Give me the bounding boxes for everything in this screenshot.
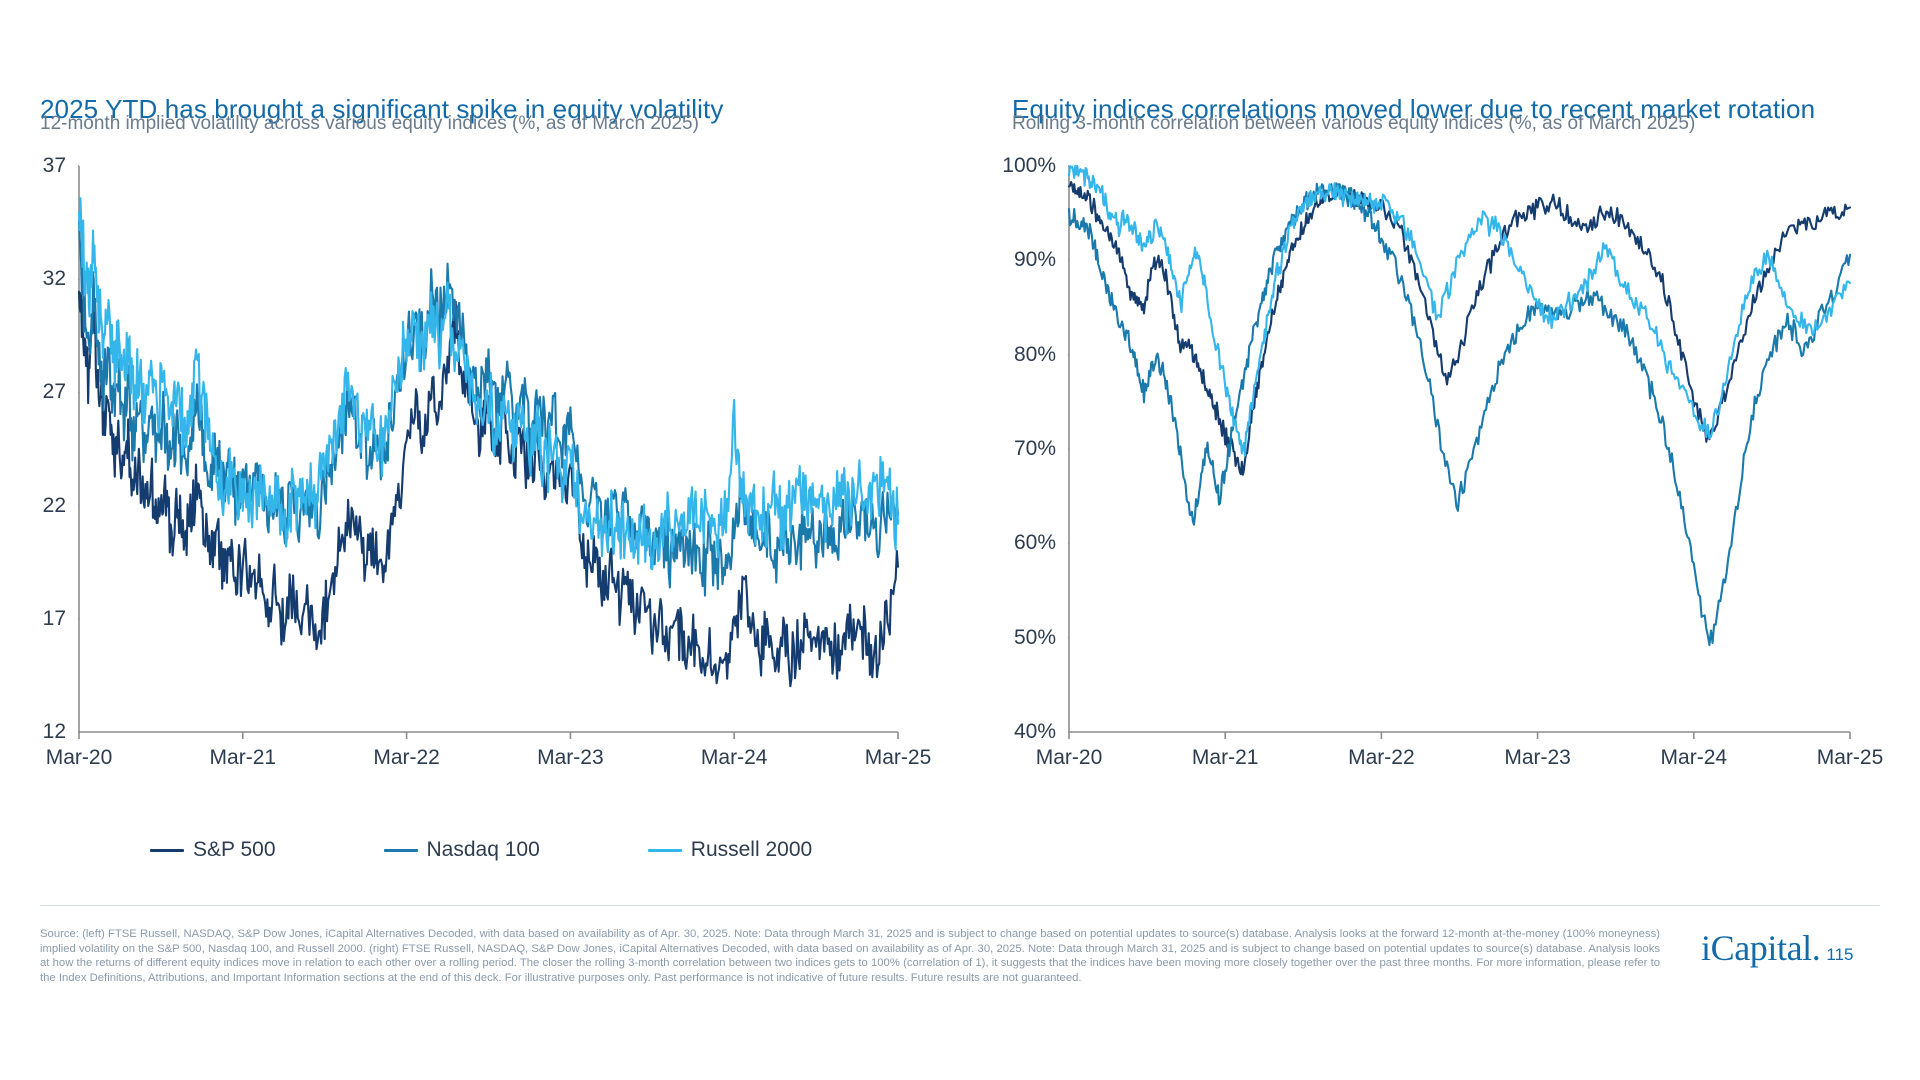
legend-swatch — [648, 849, 682, 852]
panel-rolling-correlation: Equity indices correlations moved lower … — [960, 0, 1920, 900]
plot-area-rolling-correlation: 100%90%80%70%60%50%40% Mar-20Mar-21Mar-2… — [1068, 165, 1908, 770]
chart-subtitle-right: Rolling 3-month correlation between vari… — [1012, 113, 1695, 135]
chart-subtitle-left: 12-month implied volatility across vario… — [40, 113, 699, 135]
x-tick-label: Mar-24 — [701, 746, 768, 770]
line-chart-rolling-correlation — [1068, 165, 1868, 770]
page-number: 115 — [1826, 945, 1853, 965]
x-tick-label: Mar-23 — [537, 746, 604, 770]
y-tick-label: 90% — [1014, 248, 1056, 272]
x-tick-label: Mar-20 — [46, 746, 113, 770]
panel-implied-volatility: 2025 YTD has brought a significant spike… — [0, 0, 960, 900]
legend-item[interactable]: S&P 500 — [150, 838, 276, 862]
y-tick-label: 17 — [43, 607, 66, 631]
y-tick-label: 80% — [1014, 343, 1056, 367]
footer-divider — [40, 905, 1880, 906]
x-axis-labels-left: Mar-20Mar-21Mar-22Mar-23Mar-24Mar-25 — [78, 746, 933, 776]
y-tick-label: 70% — [1014, 437, 1056, 461]
icapital-wordmark: iCapital. — [1701, 927, 1820, 969]
x-tick-label: Mar-25 — [865, 746, 932, 770]
y-tick-label: 27 — [43, 380, 66, 404]
legend-swatch — [384, 849, 418, 852]
x-tick-label: Mar-21 — [210, 746, 277, 770]
legend-item[interactable]: Russell 2000 — [648, 838, 812, 862]
source-footnote: Source: (left) FTSE Russell, NASDAQ, S&P… — [40, 927, 1660, 985]
slide: 2025 YTD has brought a significant spike… — [0, 0, 1920, 1080]
x-tick-label: Mar-23 — [1504, 746, 1571, 770]
x-tick-label: Mar-22 — [373, 746, 440, 770]
y-tick-label: 37 — [43, 154, 66, 178]
y-tick-label: 50% — [1014, 626, 1056, 650]
x-tick-label: Mar-24 — [1661, 746, 1728, 770]
y-tick-label: 60% — [1014, 531, 1056, 555]
x-tick-label: Mar-25 — [1817, 746, 1884, 770]
slide-footer: Source: (left) FTSE Russell, NASDAQ, S&P… — [0, 905, 1920, 1080]
legend-label: Nasdaq 100 — [427, 838, 540, 862]
legend-label: Russell 2000 — [691, 838, 812, 862]
y-tick-label: 12 — [43, 720, 66, 744]
legend-label: S&P 500 — [193, 838, 276, 862]
x-tick-label: Mar-20 — [1036, 746, 1103, 770]
line-chart-implied-volatility — [78, 165, 933, 770]
plot-area-implied-volatility: 373227221712 Mar-20Mar-21Mar-22Mar-23Mar… — [78, 165, 933, 770]
x-axis-labels-right: Mar-20Mar-21Mar-22Mar-23Mar-24Mar-25 — [1068, 746, 1868, 776]
y-tick-label: 32 — [43, 267, 66, 291]
legend-swatch — [150, 849, 184, 852]
x-tick-label: Mar-22 — [1348, 746, 1415, 770]
x-tick-label: Mar-21 — [1192, 746, 1259, 770]
y-tick-label: 22 — [43, 494, 66, 518]
brand-logo: iCapital. 115 — [1701, 927, 1854, 969]
legend-implied-volatility: S&P 500Nasdaq 100Russell 2000 — [150, 838, 812, 862]
legend-item[interactable]: Nasdaq 100 — [384, 838, 540, 862]
y-tick-label: 40% — [1014, 720, 1056, 744]
y-tick-label: 100% — [1002, 154, 1056, 178]
